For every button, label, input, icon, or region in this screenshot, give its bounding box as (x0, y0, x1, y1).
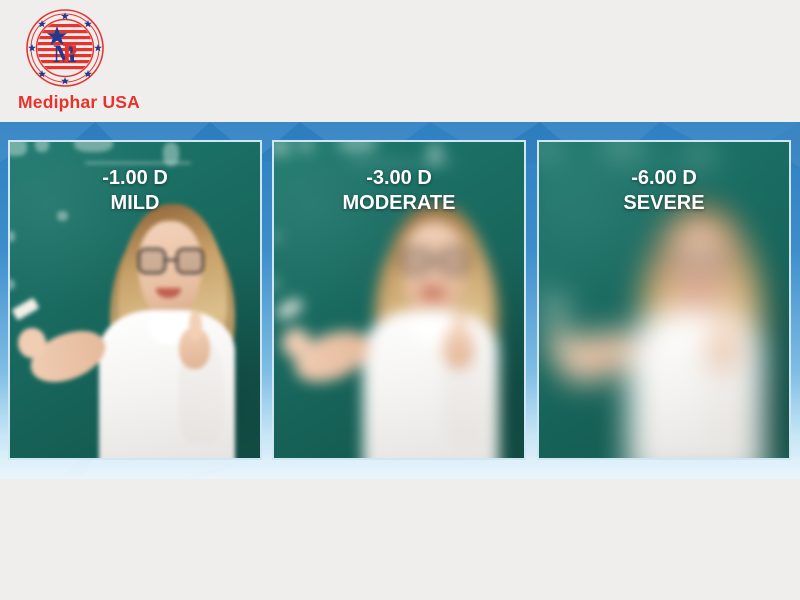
panel-power-severe: -6.00 D (539, 166, 789, 191)
mediphar-seal-icon: M P (22, 8, 108, 88)
panel-level-mild: MILD (10, 191, 260, 216)
myopia-severity-banner: -1.00 D MILD (0, 122, 800, 479)
page-footer-space (0, 479, 800, 600)
eyeglasses-icon (402, 248, 469, 274)
panel-power-moderate: -3.00 D (274, 166, 524, 191)
panel-caption-severe: -6.00 D SEVERE (539, 166, 789, 216)
svg-text:P: P (63, 41, 78, 67)
severity-panel-severe[interactable]: -6.00 D SEVERE (537, 140, 791, 460)
panel-level-moderate: MODERATE (274, 191, 524, 216)
severity-panel-moderate[interactable]: -3.00 D MODERATE (272, 140, 526, 460)
panel-caption-mild: -1.00 D MILD (10, 166, 260, 216)
eyeglasses-icon (667, 248, 734, 274)
eyeglasses-icon (138, 248, 205, 274)
page-header: M P Mediphar USA (0, 0, 800, 122)
brand-logo-block: M P Mediphar USA (10, 8, 160, 88)
circular-seal-star-stripes-mp-monogram-icon: M P (22, 8, 108, 88)
panel-caption-moderate: -3.00 D MODERATE (274, 166, 524, 216)
panel-power-mild: -1.00 D (10, 166, 260, 191)
severity-panel-mild[interactable]: -1.00 D MILD (8, 140, 262, 460)
panel-row: -1.00 D MILD (0, 122, 800, 479)
panel-level-severe: SEVERE (539, 191, 789, 216)
brand-name: Mediphar USA (18, 92, 140, 113)
